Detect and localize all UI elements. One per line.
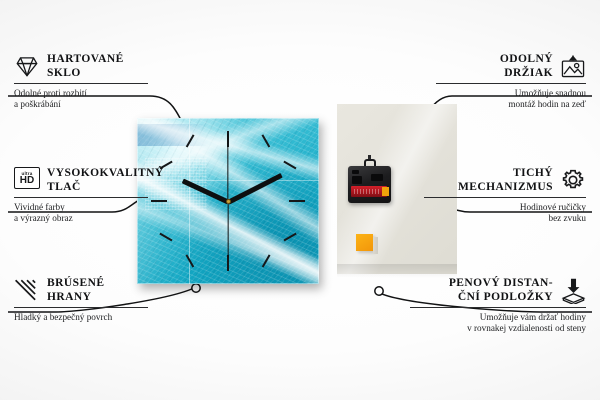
- mechanism-slot-small: [352, 170, 359, 174]
- callout-desc-line1: Hladký a bezpečný povrch: [14, 312, 174, 324]
- callout-titles: ODOLNÝ DRŽIAK: [500, 52, 553, 80]
- callout-divider: [14, 197, 148, 198]
- foam-spacer-icon: [560, 277, 586, 303]
- callout-header: ODOLNÝ DRŽIAK: [436, 52, 586, 80]
- callout-header: HARTOVANÉ SKLO: [14, 52, 164, 80]
- glass-edge-highlight: [137, 118, 319, 284]
- callout-title-line2: ČNÍ PODLOŽKY: [449, 290, 553, 304]
- callout-title-line1: ODOLNÝ: [500, 52, 553, 66]
- callout-title-line2: DRŽIAK: [500, 66, 553, 80]
- callout-title-line1: TICHÝ: [458, 166, 553, 180]
- callout-desc-line1: Odolné proti rozbití: [14, 88, 164, 100]
- callout-foam-spacers: PENOVÝ DISTAN- ČNÍ PODLOŽKY Umožňuje vám…: [410, 276, 586, 335]
- callout-desc-line2: a poškrábání: [14, 99, 164, 111]
- callout-title-line2: HRANY: [47, 290, 104, 304]
- callout-desc-line2: bez zvuku: [424, 213, 586, 225]
- callout-polished-edges: BRÚSENÉ HRANY Hladký a bezpečný povrch: [14, 276, 174, 323]
- callout-header: PENOVÝ DISTAN- ČNÍ PODLOŽKY: [410, 276, 586, 304]
- callout-desc-line2: a výrazný obraz: [14, 213, 164, 225]
- callout-title-line1: PENOVÝ DISTAN-: [449, 276, 553, 290]
- battery-positive-terminal: [382, 187, 389, 196]
- callout-desc-line2: montáž hodin na zeď: [436, 99, 586, 111]
- callout-title-line2: TLAČ: [47, 180, 164, 194]
- callout-divider: [14, 307, 148, 308]
- callout-title-line1: VYSOKOKVALITNÝ: [47, 166, 164, 180]
- callout-titles: PENOVÝ DISTAN- ČNÍ PODLOŽKY: [449, 276, 553, 304]
- gear-icon: [560, 167, 586, 193]
- callout-title-line2: MECHANIZMUS: [458, 180, 553, 194]
- ultra-hd-icon: ultra HD: [14, 167, 40, 193]
- foam-spacer-pad-shadow: [373, 237, 378, 254]
- battery-label: [354, 189, 380, 194]
- callout-desc-line1: Umožňuje snadnou: [436, 88, 586, 100]
- picture-hanger-icon: [560, 53, 586, 79]
- polished-edges-icon: [14, 277, 40, 303]
- callout-header: TICHÝ MECHANIZMUS: [424, 166, 586, 194]
- connector-node-foam: [375, 287, 383, 295]
- hd-main-label: HD: [20, 176, 34, 186]
- foam-spacer-pad: [356, 234, 373, 251]
- callout-titles: BRÚSENÉ HRANY: [47, 276, 104, 304]
- mechanism-slot-right: [371, 174, 383, 181]
- callout-divider: [410, 307, 586, 308]
- callout-silent-mechanism: TICHÝ MECHANIZMUS Hodinové ručičky bez z…: [424, 166, 586, 225]
- callout-titles: VYSOKOKVALITNÝ TLAČ: [47, 166, 164, 194]
- callout-header: BRÚSENÉ HRANY: [14, 276, 174, 304]
- mechanism-slot-left: [352, 176, 362, 184]
- callout-desc-line1: Vividné farby: [14, 202, 164, 214]
- callout-title-line1: BRÚSENÉ: [47, 276, 104, 290]
- callout-divider: [436, 83, 586, 84]
- glass-clock-panel: [137, 118, 319, 284]
- callout-titles: TICHÝ MECHANIZMUS: [458, 166, 553, 194]
- infographic-canvas: HARTOVANÉ SKLO Odolné proti rozbití a po…: [0, 0, 600, 400]
- connector-node-edges: [192, 284, 200, 292]
- callout-desc-line1: Umožňuje vám držať hodiny: [410, 312, 586, 324]
- callout-high-quality-print: ultra HD VYSOKOKVALITNÝ TLAČ Vividné far…: [14, 166, 164, 225]
- callout-title-line2: SKLO: [47, 66, 124, 80]
- diamond-icon: [14, 53, 40, 79]
- product-photo: [137, 104, 457, 284]
- callout-desc-line1: Hodinové ručičky: [424, 202, 586, 214]
- callout-tempered-glass: HARTOVANÉ SKLO Odolné proti rozbití a po…: [14, 52, 164, 111]
- callout-title-line1: HARTOVANÉ: [47, 52, 124, 66]
- callout-divider: [424, 197, 586, 198]
- callout-header: ultra HD VYSOKOKVALITNÝ TLAČ: [14, 166, 164, 194]
- callout-desc-line2: v rovnakej vzdialenosti od steny: [410, 323, 586, 335]
- callout-divider: [14, 83, 148, 84]
- callout-durable-hanger: ODOLNÝ DRŽIAK Umožňuje snadnou montáž ho…: [436, 52, 586, 111]
- callout-titles: HARTOVANÉ SKLO: [47, 52, 124, 80]
